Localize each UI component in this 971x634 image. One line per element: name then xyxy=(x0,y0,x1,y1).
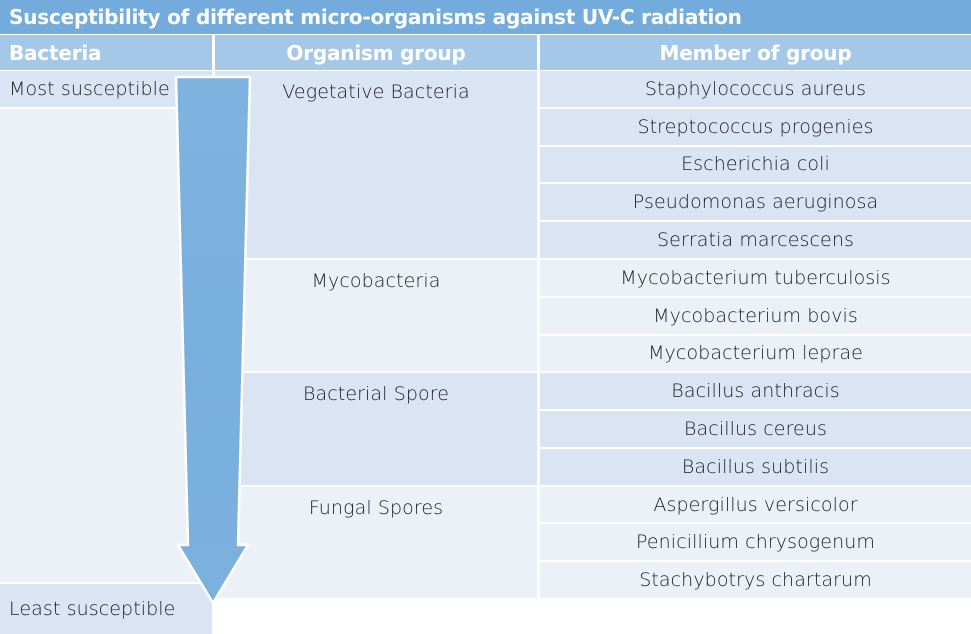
member-cell-label: Serratia marcescens xyxy=(657,229,854,251)
member-cell: Mycobacterium tuberculosis xyxy=(540,260,971,296)
member-cell-label: Pseudomonas aeruginosa xyxy=(633,191,878,213)
member-cell: Streptococcus progenies xyxy=(540,109,971,145)
most-susceptible-cell: Most susceptible xyxy=(0,71,212,107)
group-cell: Mycobacteria xyxy=(215,260,537,371)
group-cell: Fungal Spores xyxy=(215,487,537,598)
member-cell-label: Bacillus cereus xyxy=(684,418,827,440)
member-cell-label: Streptococcus progenies xyxy=(637,116,873,138)
member-cell: Mycobacterium leprae xyxy=(540,336,971,372)
column-organism-group: Vegetative BacteriaMycobacteriaBacterial… xyxy=(215,71,537,622)
table-header-row: Bacteria Organism group Member of group xyxy=(0,35,971,70)
table-title-bar: Susceptibility of different micro-organi… xyxy=(0,0,971,34)
bacteria-spacer-cell xyxy=(0,109,212,582)
group-cell: Vegetative Bacteria xyxy=(215,71,537,258)
column-header-organism-group: Organism group xyxy=(215,35,537,70)
least-susceptible-cell: Least susceptible xyxy=(0,584,212,634)
member-cell: Staphylococcus aureus xyxy=(540,71,971,107)
table-body: Most susceptibleLeast susceptible Vegeta… xyxy=(0,71,971,622)
member-cell: Penicillium chrysogenum xyxy=(540,524,971,560)
column-member-of-group: Staphylococcus aureusStreptococcus proge… xyxy=(540,71,971,622)
member-cell: Mycobacterium bovis xyxy=(540,298,971,334)
member-cell: Bacillus subtilis xyxy=(540,449,971,485)
page-title: Susceptibility of different micro-organi… xyxy=(9,5,742,29)
member-cell-label: Bacillus subtilis xyxy=(682,456,829,478)
member-cell-label: Stachybotrys chartarum xyxy=(639,569,872,591)
column-bacteria: Most susceptibleLeast susceptible xyxy=(0,71,212,622)
susceptibility-table: Susceptibility of different micro-organi… xyxy=(0,0,971,622)
member-cell: Pseudomonas aeruginosa xyxy=(540,184,971,220)
member-cell: Serratia marcescens xyxy=(540,222,971,258)
group-cell-label: Mycobacteria xyxy=(312,270,441,292)
column-header-member-of-group: Member of group xyxy=(540,35,971,70)
member-cell: Aspergillus versicolor xyxy=(540,487,971,523)
member-cell: Bacillus cereus xyxy=(540,411,971,447)
group-cell: Bacterial Spore xyxy=(215,373,537,484)
group-cell-label: Vegetative Bacteria xyxy=(282,81,469,103)
member-cell-label: Mycobacterium leprae xyxy=(648,342,863,364)
group-cell-label: Bacterial Spore xyxy=(303,383,449,405)
column-header-bacteria: Bacteria xyxy=(0,35,212,70)
most-susceptible-cell-label: Most susceptible xyxy=(9,78,170,100)
member-cell-label: Penicillium chrysogenum xyxy=(636,531,875,553)
member-cell: Stachybotrys chartarum xyxy=(540,562,971,598)
member-cell: Escherichia coli xyxy=(540,147,971,183)
member-cell-label: Staphylococcus aureus xyxy=(645,78,866,100)
member-cell-label: Bacillus anthracis xyxy=(671,380,839,402)
member-cell: Bacillus anthracis xyxy=(540,373,971,409)
group-cell-label: Fungal Spores xyxy=(309,497,443,519)
least-susceptible-cell-label: Least susceptible xyxy=(9,598,175,620)
member-cell-label: Aspergillus versicolor xyxy=(653,494,857,516)
member-cell-label: Mycobacterium bovis xyxy=(653,305,858,327)
member-cell-label: Escherichia coli xyxy=(681,153,830,175)
member-cell-label: Mycobacterium tuberculosis xyxy=(620,267,890,289)
